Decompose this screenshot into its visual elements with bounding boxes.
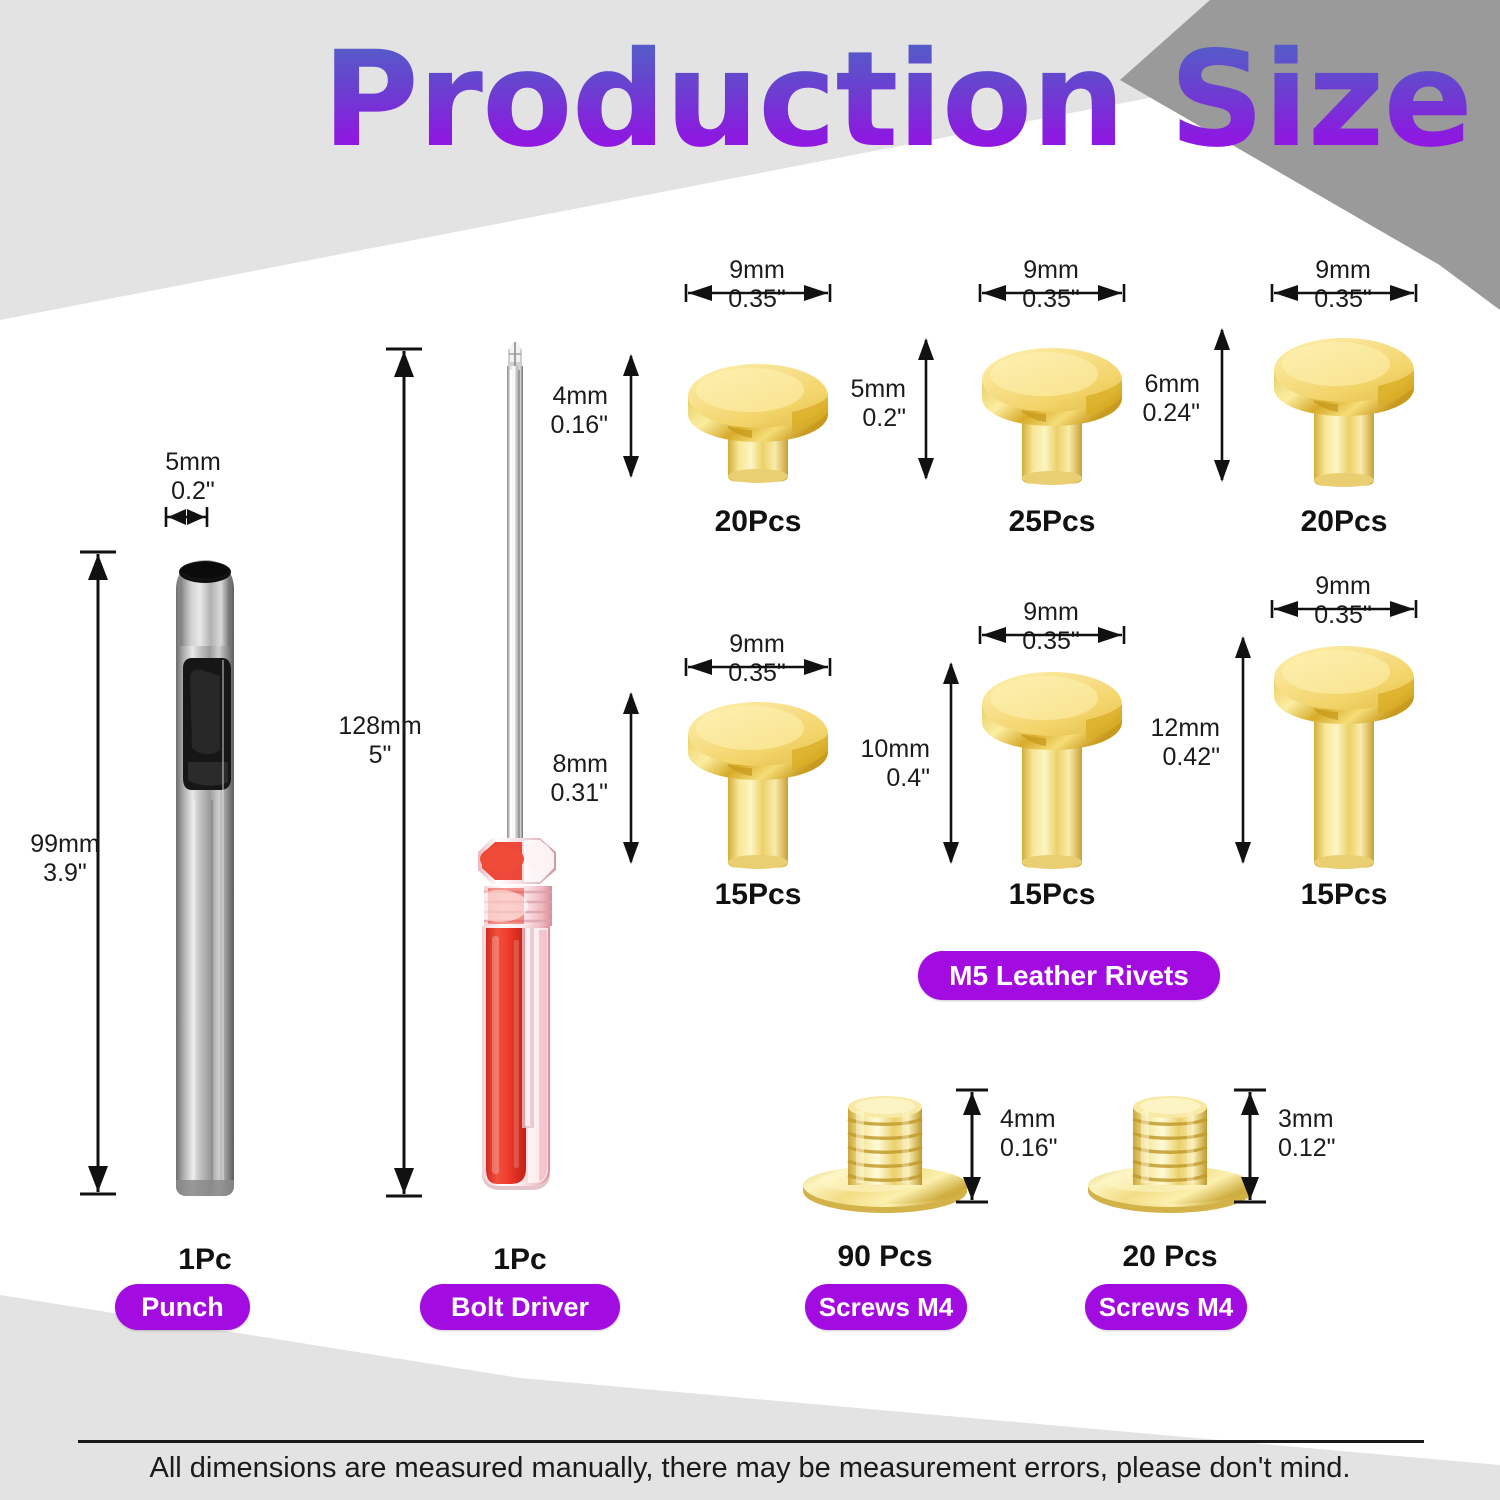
rivet-8mm-height-arrow (618, 690, 644, 866)
rivet-5mm-width-mm: 9mm (976, 256, 1126, 285)
rivet-12mm-width-mm: 9mm (1268, 572, 1418, 601)
badge-m5-leather-rivets[interactable]: M5 Leather Rivets (918, 951, 1220, 1000)
rivet-4mm-width-arrow (682, 282, 834, 304)
screw-3mm-height-mm: 3mm (1278, 1105, 1418, 1134)
screw-3mm-qty: 20 Pcs (1075, 1240, 1265, 1274)
rivet-8mm-width-arrow (682, 656, 834, 678)
rivet-10mm-height-mm: 10mm (778, 735, 930, 764)
rivet-10mm-height-arrow (938, 660, 964, 866)
badge-screws-m4-20[interactable]: Screws M4 (1085, 1284, 1247, 1330)
badge-punch[interactable]: Punch (115, 1284, 250, 1330)
rivet-4mm-width-mm: 9mm (682, 256, 832, 285)
rivet-4mm-height-in: 0.16" (478, 411, 608, 440)
rivet-12mm-height-in: 0.42" (1062, 743, 1220, 772)
punch-height-mm: 99mm (0, 830, 140, 859)
rivet-6mm-height-arrow (1209, 326, 1235, 484)
rivet-6mm-width-arrow (1268, 282, 1420, 304)
screw-4mm-height-arrow (952, 1085, 992, 1207)
screw-4mm-qty: 90 Pcs (790, 1240, 980, 1274)
rivet-10mm-height-in: 0.4" (778, 764, 930, 793)
punch-height-in: 3.9" (0, 859, 140, 888)
footer-divider (78, 1440, 1424, 1443)
rivet-10mm-width-arrow (976, 624, 1128, 646)
footer-note: All dimensions are measured manually, th… (0, 1452, 1500, 1485)
rivet-5mm-height-mm: 5mm (778, 375, 906, 404)
rivet-12mm-qty: 15Pcs (1264, 878, 1424, 912)
rivet-6mm-height-in: 0.24" (1062, 399, 1200, 428)
rivet-6mm-height-mm: 6mm (1062, 370, 1200, 399)
page-title: Production Size (0, 34, 1500, 166)
rivet-12mm-height-mm: 12mm (1062, 714, 1220, 743)
punch-width-in: 0.2" (118, 477, 268, 506)
badge-screws-m4-90[interactable]: Screws M4 (805, 1284, 967, 1330)
rivet-5mm-height-in: 0.2" (778, 404, 906, 433)
rivet-5mm-qty: 25Pcs (972, 505, 1132, 539)
rivet-6mm-illustration (1258, 326, 1430, 488)
bolt-driver-qty: 1Pc (400, 1243, 640, 1277)
bolt-driver-height-in: 5" (300, 741, 460, 770)
rivet-4mm-height-mm: 4mm (478, 382, 608, 411)
rivet-12mm-illustration (1258, 634, 1430, 870)
rivet-10mm-qty: 15Pcs (972, 878, 1132, 912)
punch-width-arrow (160, 505, 230, 529)
rivet-5mm-width-arrow (976, 282, 1128, 304)
punch-illustration (150, 550, 260, 1200)
rivet-6mm-width-mm: 9mm (1268, 256, 1418, 285)
rivet-6mm-qty: 20Pcs (1264, 505, 1424, 539)
screw-3mm-height-arrow (1230, 1085, 1270, 1207)
punch-qty: 1Pc (85, 1243, 325, 1277)
rivet-8mm-height-in: 0.31" (478, 779, 608, 808)
badge-bolt-driver[interactable]: Bolt Driver (420, 1284, 620, 1330)
bolt-driver-height-mm: 128mm (300, 712, 460, 741)
infographic-page: Production Size 5mm 0.2" 99mm 3.9" (0, 0, 1500, 1500)
rivet-8mm-width-mm: 9mm (682, 630, 832, 659)
rivet-8mm-height-mm: 8mm (478, 750, 608, 779)
rivet-12mm-width-arrow (1268, 598, 1420, 620)
rivet-12mm-height-arrow (1230, 634, 1256, 866)
rivet-4mm-height-arrow (618, 352, 644, 480)
bolt-driver-height-arrow (382, 345, 426, 1200)
rivet-8mm-qty: 15Pcs (678, 878, 838, 912)
rivet-10mm-width-mm: 9mm (976, 598, 1126, 627)
screw-3mm-height-in: 0.12" (1278, 1134, 1418, 1163)
rivet-5mm-height-arrow (913, 336, 939, 482)
rivet-4mm-qty: 20Pcs (678, 505, 838, 539)
punch-width-mm: 5mm (118, 448, 268, 477)
